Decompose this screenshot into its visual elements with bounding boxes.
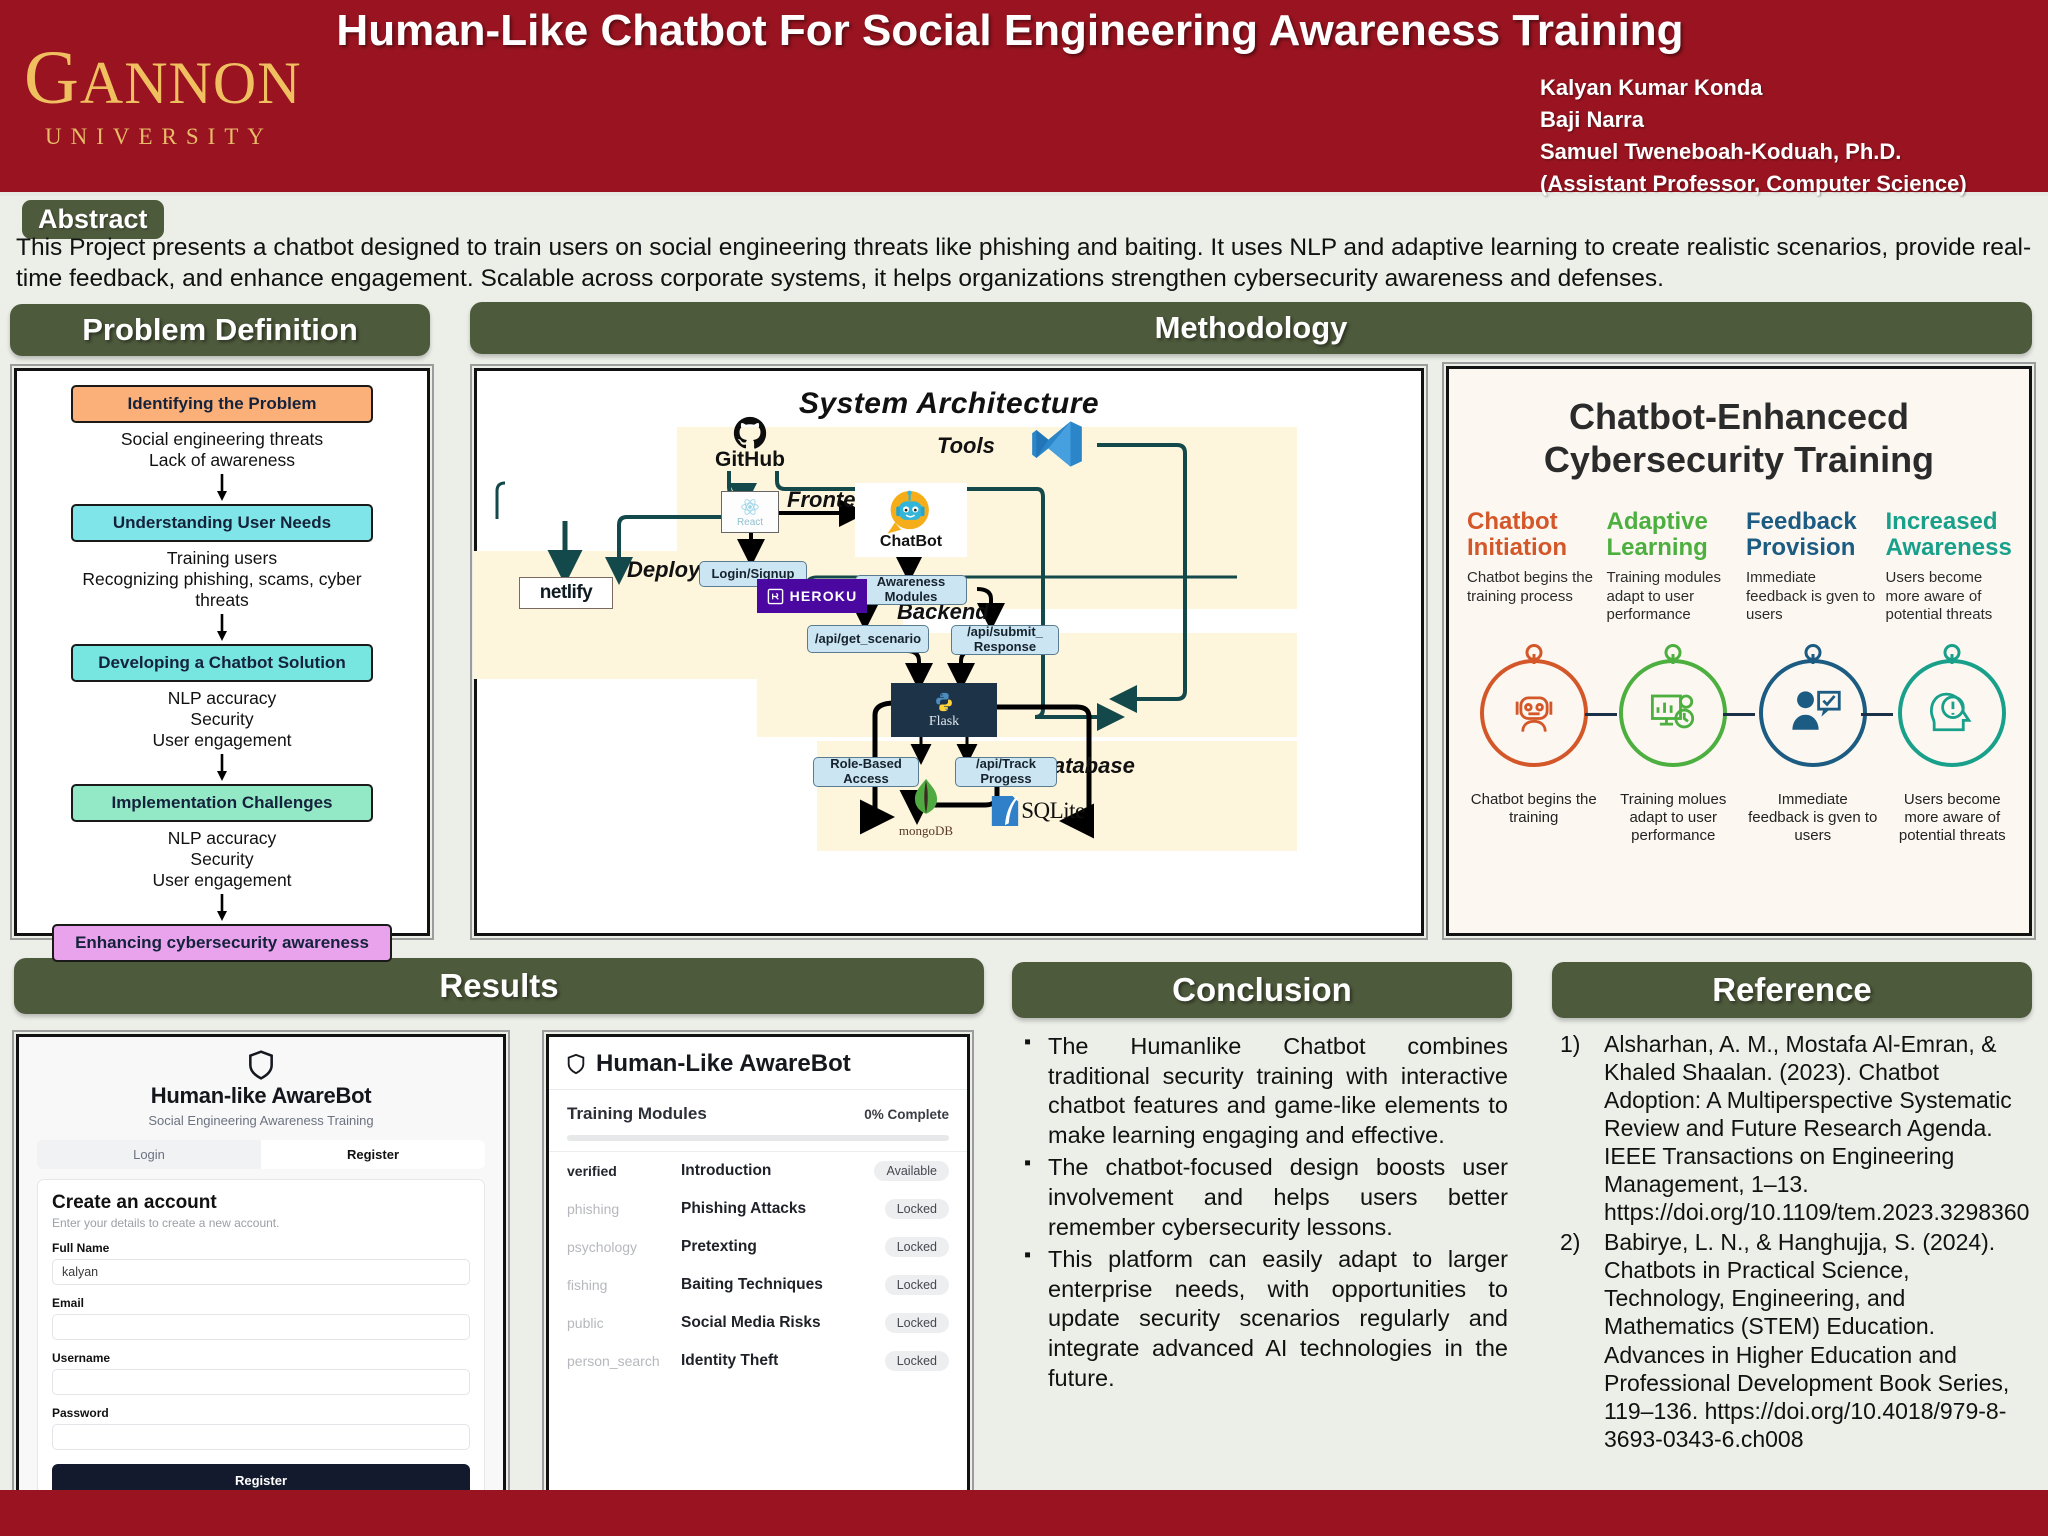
flow-step-caption: Training usersRecognizing phishing, scam… bbox=[45, 542, 399, 612]
node-label: Awareness Modules bbox=[856, 575, 966, 604]
conclusion-list: The Humanlike Chatbot combines tradition… bbox=[1018, 1032, 1508, 1396]
tab-register[interactable]: Register bbox=[261, 1140, 485, 1169]
infographic-circle-row: Chatbot begins the trainingTraining molu… bbox=[1467, 659, 2019, 845]
input-password[interactable] bbox=[52, 1424, 470, 1450]
flow-step-caption: NLP accuracySecurityUser engagement bbox=[45, 822, 399, 892]
node-api-submit-response: /api/submit_ Response bbox=[951, 625, 1059, 655]
module-status-badge: Locked bbox=[885, 1313, 949, 1333]
step-caption: Chatbot begins the training bbox=[1467, 791, 1601, 827]
github-icon bbox=[733, 416, 767, 450]
user-feedback-icon bbox=[1759, 659, 1867, 767]
abstract-text: This Project presents a chatbot designed… bbox=[16, 232, 2032, 295]
shield-icon bbox=[565, 1053, 587, 1075]
module-name: Introduction bbox=[681, 1162, 864, 1179]
input-username[interactable] bbox=[52, 1369, 470, 1395]
reference-item: 1)Alsharhan, A. M., Mostafa Al-Emran, & … bbox=[1560, 1030, 2032, 1226]
banner-label: Results bbox=[439, 967, 558, 1005]
input-full-name[interactable]: kalyan bbox=[52, 1259, 470, 1285]
app-branding: Human-like AwareBot Social Engineering A… bbox=[19, 1037, 503, 1128]
heroku-icon bbox=[767, 588, 784, 605]
flow-step-box: Developing a Chatbot Solution bbox=[71, 644, 373, 682]
section-banner-conclusion: Conclusion bbox=[1012, 962, 1512, 1018]
footer-bar bbox=[0, 1490, 2048, 1536]
label-password: Password bbox=[52, 1406, 470, 1420]
module-name: Identity Theft bbox=[681, 1352, 875, 1369]
infographic-title: Chatbot-Enhancecd Cybersecurity Training bbox=[1449, 395, 2029, 481]
react-logo: React bbox=[721, 491, 779, 533]
awarebot-modules-app: Human-Like AwareBot Training Modules 0% … bbox=[549, 1037, 967, 1493]
infographic-column-4: IncreasedAwarenessUsers become more awar… bbox=[1886, 509, 2020, 625]
conclusion-bullet: The chatbot-focused design boosts user i… bbox=[1018, 1153, 1508, 1242]
module-name: Social Media Risks bbox=[681, 1314, 875, 1331]
input-email[interactable] bbox=[52, 1314, 470, 1340]
system-architecture-panel: System Architecture bbox=[474, 368, 1424, 936]
infographic-column-1: ChatbotInitiationChatbot begins the trai… bbox=[1467, 509, 1601, 625]
modules-list: verifiedIntroductionAvailablephishingPhi… bbox=[549, 1151, 967, 1380]
infographic-columns: ChatbotInitiationChatbot begins the trai… bbox=[1467, 509, 2019, 625]
heroku-label: HEROKU bbox=[790, 588, 858, 604]
modules-section-title: Training Modules bbox=[567, 1104, 707, 1124]
tools-label: Tools bbox=[937, 433, 995, 459]
chatbot-training-infographic-panel: Chatbot-Enhancecd Cybersecurity Training… bbox=[1446, 366, 2032, 936]
module-row[interactable]: phishingPhishing AttacksLocked bbox=[549, 1190, 967, 1228]
svg-text:Hi!: Hi! bbox=[906, 519, 918, 529]
results-modules-screenshot: Human-Like AwareBot Training Modules 0% … bbox=[546, 1034, 970, 1496]
flow-step-box: Enhancing cybersecurity awareness bbox=[52, 924, 392, 962]
results-register-screenshot: Human-like AwareBot Social Engineering A… bbox=[16, 1034, 506, 1496]
app-header: Human-Like AwareBot bbox=[549, 1037, 967, 1090]
module-icon-label: phishing bbox=[567, 1201, 671, 1217]
heroku-logo: HEROKU bbox=[757, 579, 867, 613]
python-icon bbox=[933, 691, 955, 713]
analytics-gear-icon bbox=[1619, 659, 1727, 767]
step-connector bbox=[1861, 713, 1893, 716]
sqlite-icon bbox=[989, 794, 1021, 828]
vscode-icon bbox=[1024, 417, 1090, 471]
app-tagline: Social Engineering Awareness Training bbox=[19, 1113, 503, 1128]
author-1: Kalyan Kumar Konda bbox=[1540, 72, 2030, 104]
conclusion-bullet: This platform can easily adapt to larger… bbox=[1018, 1245, 1508, 1393]
label-username: Username bbox=[52, 1351, 470, 1365]
github-label: GitHub bbox=[715, 448, 785, 472]
banner-label: Problem Definition bbox=[82, 312, 358, 348]
node-label: /api/Track Progess bbox=[956, 757, 1056, 786]
author-affiliation: (Assistant Professor, Computer Science) bbox=[1540, 168, 2030, 200]
app-title: Human-Like AwareBot bbox=[596, 1050, 851, 1078]
label-email: Email bbox=[52, 1296, 470, 1310]
problem-flow-diagram: Identifying the ProblemSocial engineerin… bbox=[17, 371, 427, 933]
module-icon-label: psychology bbox=[567, 1239, 671, 1255]
node-awareness-modules: Awareness Modules bbox=[855, 575, 967, 605]
infographic: Chatbot-Enhancecd Cybersecurity Training… bbox=[1449, 369, 2029, 933]
banner-label: Methodology bbox=[1155, 310, 1348, 346]
flow-step-caption: Social engineering threatsLack of awaren… bbox=[45, 423, 399, 472]
auth-tabs[interactable]: Login Register bbox=[37, 1140, 485, 1169]
column-text: Users become more aware of potential thr… bbox=[1886, 569, 2020, 625]
netlify-label: netlify bbox=[540, 582, 592, 604]
conclusion-bullet: The Humanlike Chatbot combines tradition… bbox=[1018, 1032, 1508, 1150]
process-step-4: Users become more aware of potential thr… bbox=[1886, 659, 2020, 845]
netlify-logo: netlify bbox=[519, 577, 613, 609]
flow-arrow-icon bbox=[214, 754, 230, 782]
flow-step-box: Identifying the Problem bbox=[71, 385, 373, 423]
card-title: Create an account bbox=[52, 1192, 470, 1214]
column-text: Chatbot begins the training process bbox=[1467, 569, 1601, 607]
module-row[interactable]: fishingBaiting TechniquesLocked bbox=[549, 1266, 967, 1304]
module-icon-label: person_search bbox=[567, 1353, 671, 1369]
module-row[interactable]: psychologyPretextingLocked bbox=[549, 1228, 967, 1266]
chatbot-logo: Hi! ChatBot bbox=[855, 483, 967, 557]
process-step-1: Chatbot begins the training bbox=[1467, 659, 1601, 845]
flow-step-box: Understanding User Needs bbox=[71, 504, 373, 542]
step-connector bbox=[1585, 713, 1617, 716]
module-row[interactable]: verifiedIntroductionAvailable bbox=[549, 1152, 967, 1190]
flow-step-box: Implementation Challenges bbox=[71, 784, 373, 822]
flow-arrow-icon bbox=[214, 474, 230, 502]
node-api-get-scenario: /api/get_scenario bbox=[807, 625, 929, 653]
awarebot-register-app: Human-like AwareBot Social Engineering A… bbox=[19, 1037, 503, 1493]
node-label: /api/submit_ Response bbox=[952, 625, 1058, 654]
module-status-badge: Locked bbox=[885, 1275, 949, 1295]
tab-login[interactable]: Login bbox=[37, 1140, 261, 1169]
author-list: Kalyan Kumar Konda Baji Narra Samuel Twe… bbox=[1540, 72, 2030, 200]
label-full-name: Full Name bbox=[52, 1241, 470, 1255]
step-caption: Training molues adapt to user performanc… bbox=[1607, 791, 1741, 845]
modules-progress-header: Training Modules 0% Complete bbox=[549, 1090, 967, 1124]
infographic-column-3: FeedbackProvisionImmediate feedback is g… bbox=[1746, 509, 1880, 625]
module-status-badge: Locked bbox=[885, 1237, 949, 1257]
flow-arrow-icon bbox=[214, 614, 230, 642]
github-logo: GitHub bbox=[695, 413, 805, 475]
step-caption: Users become more aware of potential thr… bbox=[1886, 791, 2020, 845]
module-row[interactable]: publicSocial Media RisksLocked bbox=[549, 1304, 967, 1342]
module-status-badge: Locked bbox=[885, 1351, 949, 1371]
progress-bar bbox=[567, 1135, 949, 1141]
module-name: Baiting Techniques bbox=[681, 1276, 875, 1293]
architecture-diagram: System Architecture bbox=[477, 371, 1421, 933]
module-icon-label: public bbox=[567, 1315, 671, 1331]
process-step-3: Immediate feedback is gven to users bbox=[1746, 659, 1880, 845]
gannon-university-logo: GANNON UNIVERSITY bbox=[24, 40, 294, 150]
problem-definition-panel: Identifying the ProblemSocial engineerin… bbox=[14, 368, 430, 936]
module-name: Pretexting bbox=[681, 1238, 875, 1255]
column-heading: ChatbotInitiation bbox=[1467, 509, 1601, 561]
module-status-badge: Available bbox=[874, 1161, 949, 1181]
flask-label: Flask bbox=[929, 714, 959, 730]
module-status-badge: Locked bbox=[885, 1199, 949, 1219]
module-icon-label: verified bbox=[567, 1163, 671, 1179]
step-caption: Immediate feedback is gven to users bbox=[1746, 791, 1880, 845]
app-title: Human-like AwareBot bbox=[19, 1083, 503, 1109]
author-2: Baji Narra bbox=[1540, 104, 2030, 136]
flow-arrow-icon bbox=[214, 894, 230, 922]
section-banner-reference: Reference bbox=[1552, 962, 2032, 1018]
banner-label: Reference bbox=[1712, 971, 1872, 1009]
section-banner-results: Results bbox=[14, 958, 984, 1014]
column-text: Immediate feedback is gven to users bbox=[1746, 569, 1880, 625]
flow-step-caption: NLP accuracySecurityUser engagement bbox=[45, 682, 399, 752]
column-heading: AdaptiveLearning bbox=[1607, 509, 1741, 561]
sqlite-logo: SQLite bbox=[977, 789, 1097, 833]
section-banner-problem-definition: Problem Definition bbox=[10, 304, 430, 356]
robot-icon bbox=[1480, 659, 1588, 767]
column-heading: FeedbackProvision bbox=[1746, 509, 1880, 561]
reference-number: 2) bbox=[1560, 1228, 1580, 1256]
author-3: Samuel Tweneboah-Koduah, Ph.D. bbox=[1540, 136, 2030, 168]
infographic-column-2: AdaptiveLearningTraining modules adapt t… bbox=[1607, 509, 1741, 625]
module-name: Phishing Attacks bbox=[681, 1200, 875, 1217]
sqlite-label: SQLite bbox=[1021, 798, 1084, 824]
reference-number: 1) bbox=[1560, 1030, 1580, 1058]
register-card: Create an account Enter your details to … bbox=[37, 1179, 485, 1510]
mongodb-icon bbox=[906, 777, 946, 823]
shield-icon bbox=[245, 1049, 277, 1081]
reference-list: 1)Alsharhan, A. M., Mostafa Al-Emran, & … bbox=[1560, 1030, 2032, 1455]
card-subtitle: Enter your details to create a new accou… bbox=[52, 1216, 470, 1230]
module-icon-label: fishing bbox=[567, 1277, 671, 1293]
logo-wordmark: GANNON bbox=[24, 40, 294, 116]
react-label: React bbox=[737, 517, 763, 528]
chatbot-label: ChatBot bbox=[880, 533, 942, 551]
vscode-logo bbox=[1017, 415, 1097, 473]
progress-label: 0% Complete bbox=[864, 1107, 949, 1122]
head-alert-icon bbox=[1898, 659, 2006, 767]
logo-subtext: UNIVERSITY bbox=[24, 124, 294, 150]
poster-header: GANNON UNIVERSITY Human-Like Chatbot For… bbox=[0, 0, 2048, 196]
step-connector bbox=[1723, 713, 1755, 716]
page-title: Human-Like Chatbot For Social Engineerin… bbox=[300, 6, 1720, 57]
column-text: Training modules adapt to user performan… bbox=[1607, 569, 1741, 625]
reference-item: 2)Babirye, L. N., & Hanghujja, S. (2024)… bbox=[1560, 1228, 2032, 1452]
column-heading: IncreasedAwareness bbox=[1886, 509, 2020, 561]
flask-logo: Flask bbox=[891, 683, 997, 737]
node-label: /api/get_scenario bbox=[815, 632, 921, 647]
process-step-2: Training molues adapt to user performanc… bbox=[1607, 659, 1741, 845]
mongodb-logo: mongoDB bbox=[881, 775, 971, 841]
module-row[interactable]: person_searchIdentity TheftLocked bbox=[549, 1342, 967, 1380]
section-banner-methodology: Methodology bbox=[470, 302, 2032, 354]
react-icon bbox=[739, 497, 761, 517]
mongodb-label: mongoDB bbox=[899, 823, 953, 839]
banner-label: Conclusion bbox=[1172, 971, 1352, 1009]
